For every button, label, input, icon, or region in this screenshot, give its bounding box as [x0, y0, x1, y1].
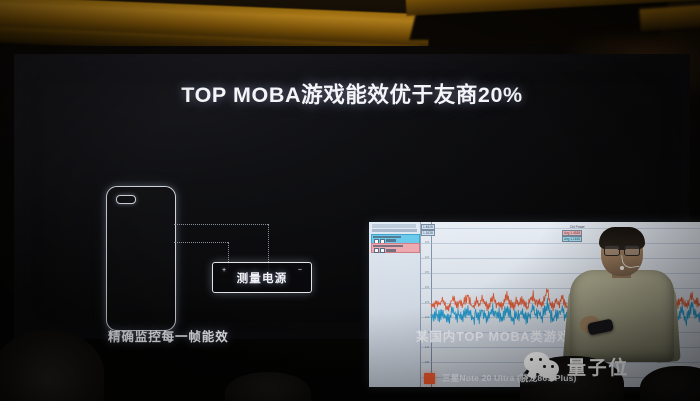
- wechat-icon: [524, 352, 560, 380]
- watermark-text: 量子位: [567, 353, 629, 380]
- wire-top-horizontal: [174, 224, 268, 225]
- power-supply-label: 测量电源: [237, 270, 288, 286]
- punch-hole-camera-icon: [116, 195, 136, 204]
- terminal-positive-label: +: [222, 267, 226, 274]
- caption-right: 某国内TOP MOBA类游戏: [416, 326, 571, 345]
- wechat-eye-4: [551, 365, 554, 368]
- presenter: [566, 228, 678, 358]
- headset-mic-tip: [620, 266, 624, 270]
- phone-outline-icon: [106, 186, 176, 331]
- terminal-negative-label: −: [298, 267, 302, 274]
- screenshot-stage: TOP MOBA游戏能效优于友商20% + − 测量电源: [0, 0, 700, 401]
- wire-bottom-horizontal: [174, 242, 228, 243]
- glasses-lens-left: [604, 245, 620, 256]
- wechat-eye-3: [543, 365, 546, 368]
- measurement-power-supply: + − 测量电源: [212, 262, 312, 293]
- wechat-bubble-small: [537, 360, 559, 378]
- slide-title: TOP MOBA游戏能效优于友商20%: [14, 78, 690, 109]
- caption-left: 精确监控每一帧能效: [108, 326, 229, 345]
- watermark: 量子位: [524, 352, 629, 380]
- series-legend-swatch: [424, 373, 435, 384]
- measurement-diagram: + − 测量电源: [94, 184, 324, 334]
